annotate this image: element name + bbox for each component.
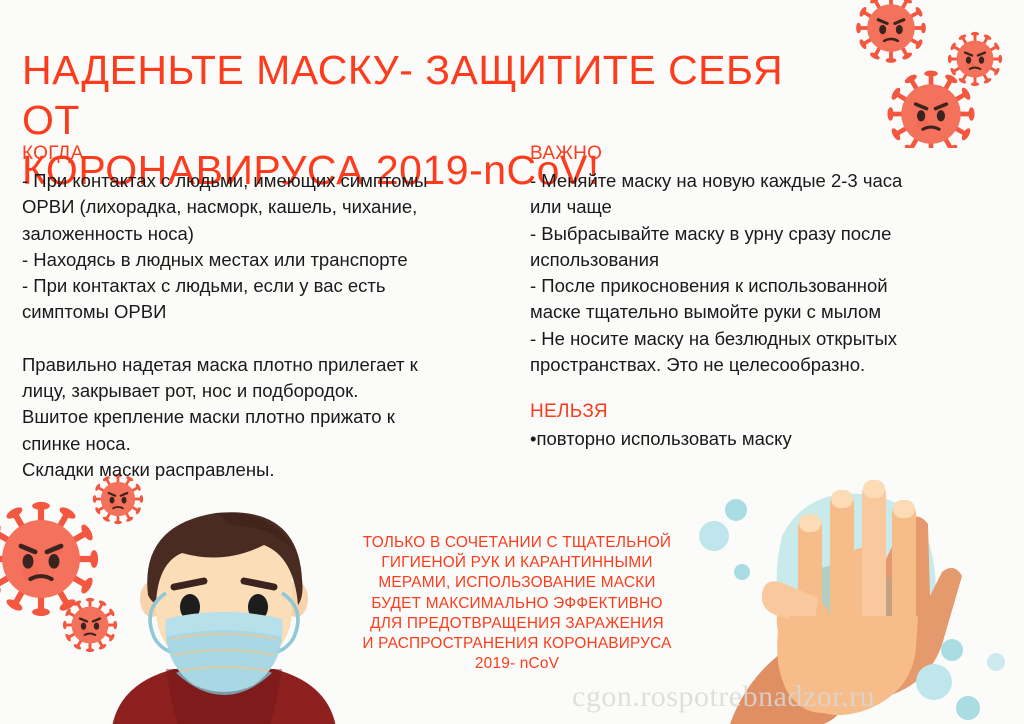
spacer xyxy=(530,378,1012,400)
section-heading-important: ВАЖНО xyxy=(530,142,1012,166)
virus-particle-icon xyxy=(0,502,98,616)
poster-canvas: НАДЕНЬТЕ МАСКУ- ЗАЩИТИТЕ СЕБЯ ОТ КОРОНАВ… xyxy=(0,0,1024,724)
left-column: КОГДА - При контактах с людьми, имеющих … xyxy=(22,142,514,483)
virus-particle-icon xyxy=(856,0,926,63)
finger-shape xyxy=(862,480,886,618)
when-list: - При контактах с людьми, имеющих симпто… xyxy=(22,168,514,326)
fingernail-shape xyxy=(893,500,915,518)
soap-bubble-icon xyxy=(725,499,747,521)
correct-mask-note: Правильно надетая маска плотно прилегает… xyxy=(22,352,514,483)
soap-bubble-icon xyxy=(987,653,1005,671)
bottom-slogan: ТОЛЬКО В СОЧЕТАНИИ С ТЩАТЕЛЬНОЙ ГИГИЕНОЙ… xyxy=(322,533,712,674)
right-column: ВАЖНО - Меняйте маску на новую каждые 2-… xyxy=(530,142,1012,453)
fingernail-shape xyxy=(799,514,821,532)
soap-bubble-icon xyxy=(734,564,750,580)
soap-bubble-icon xyxy=(941,639,963,661)
fingernail-shape xyxy=(863,480,885,498)
important-list: - Меняйте маску на новую каждые 2-3 часа… xyxy=(530,168,1012,378)
handwashing-illustration xyxy=(694,470,1024,724)
soap-bubble-icon xyxy=(916,664,952,700)
boy-with-mask-illustration xyxy=(104,487,344,724)
virus-particle-icon xyxy=(948,32,1002,86)
section-heading-forbidden: НЕЛЬЗЯ xyxy=(530,400,1012,424)
forbidden-list: •повторно использовать маску xyxy=(530,426,1012,452)
spacer xyxy=(22,326,514,352)
soap-bubble-icon xyxy=(956,696,980,720)
fingernail-shape xyxy=(831,490,853,508)
finger-shape xyxy=(830,490,854,618)
section-heading-when: КОГДА xyxy=(22,142,514,166)
virus-cluster-top-right-illustration xyxy=(846,0,1024,148)
